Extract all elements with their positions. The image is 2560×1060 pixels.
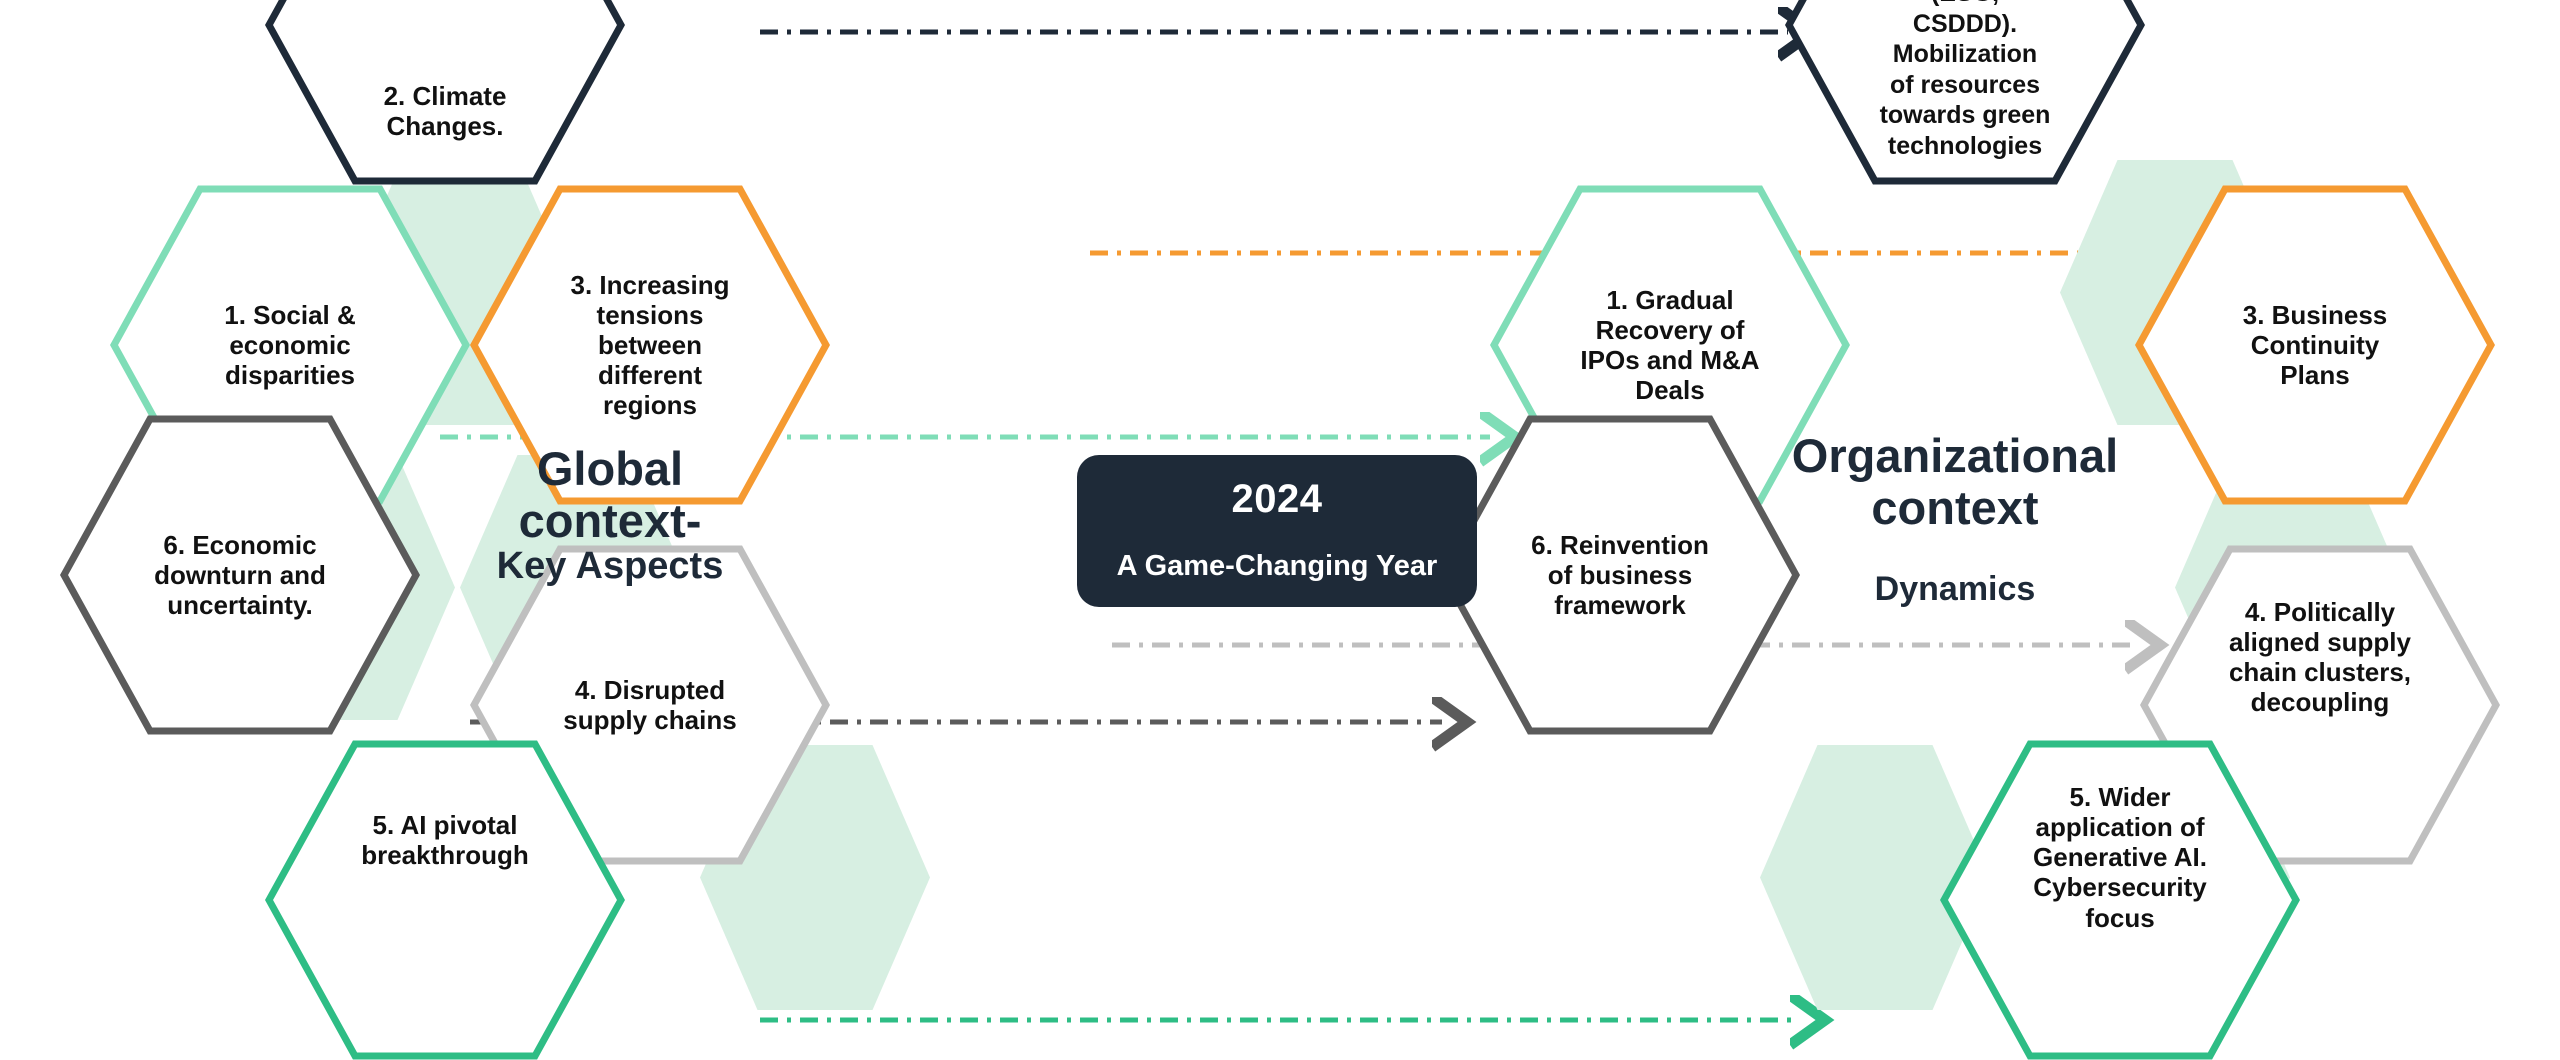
right-title-line1: Organizational xyxy=(1720,430,2190,482)
center-subtitle: A Game-Changing Year xyxy=(1099,548,1456,584)
left-title-line3: Key Aspects xyxy=(460,546,760,588)
right-section-subtitle: Dynamics xyxy=(1720,570,2190,609)
hexagon-ai-pivotal-breakthrough[interactable]: 5. AI pivotal breakthrough xyxy=(265,740,625,1060)
hexagon-label: 6. Economic downturn and uncertainty. xyxy=(60,415,420,735)
center-year: 2024 xyxy=(1232,477,1323,522)
left-title-line1: Global xyxy=(460,443,760,495)
center-year-card: 2024 A Game-Changing Year xyxy=(1077,455,1477,607)
hexagon-label: 5. Wider application of Generative AI. C… xyxy=(1940,740,2300,1060)
hexagon-label: 2. Climate Changes. xyxy=(265,0,625,185)
hexagon-label: 5. AI pivotal breakthrough xyxy=(265,740,625,1060)
right-section-title: Organizational context xyxy=(1720,430,2190,533)
hexagon-corporate-sustainability[interactable]: 2. Corporate Sustainability (ESG, CSDDD)… xyxy=(1785,0,2145,185)
hexagon-wider-generative-ai[interactable]: 5. Wider application of Generative AI. C… xyxy=(1940,740,2300,1060)
hexagon-label: 2. Corporate Sustainability (ESG, CSDDD)… xyxy=(1785,0,2145,185)
hexagon-climate-changes[interactable]: 2. Climate Changes. xyxy=(265,0,625,185)
hexagon-economic-downturn[interactable]: 6. Economic downturn and uncertainty. xyxy=(60,415,420,735)
diagram-canvas: 1. Social & economic disparities 2. Clim… xyxy=(0,0,2560,1060)
left-title-line2: context- xyxy=(460,495,760,547)
left-section-title: Global context- Key Aspects xyxy=(460,443,760,588)
right-title-line2: context xyxy=(1720,482,2190,534)
